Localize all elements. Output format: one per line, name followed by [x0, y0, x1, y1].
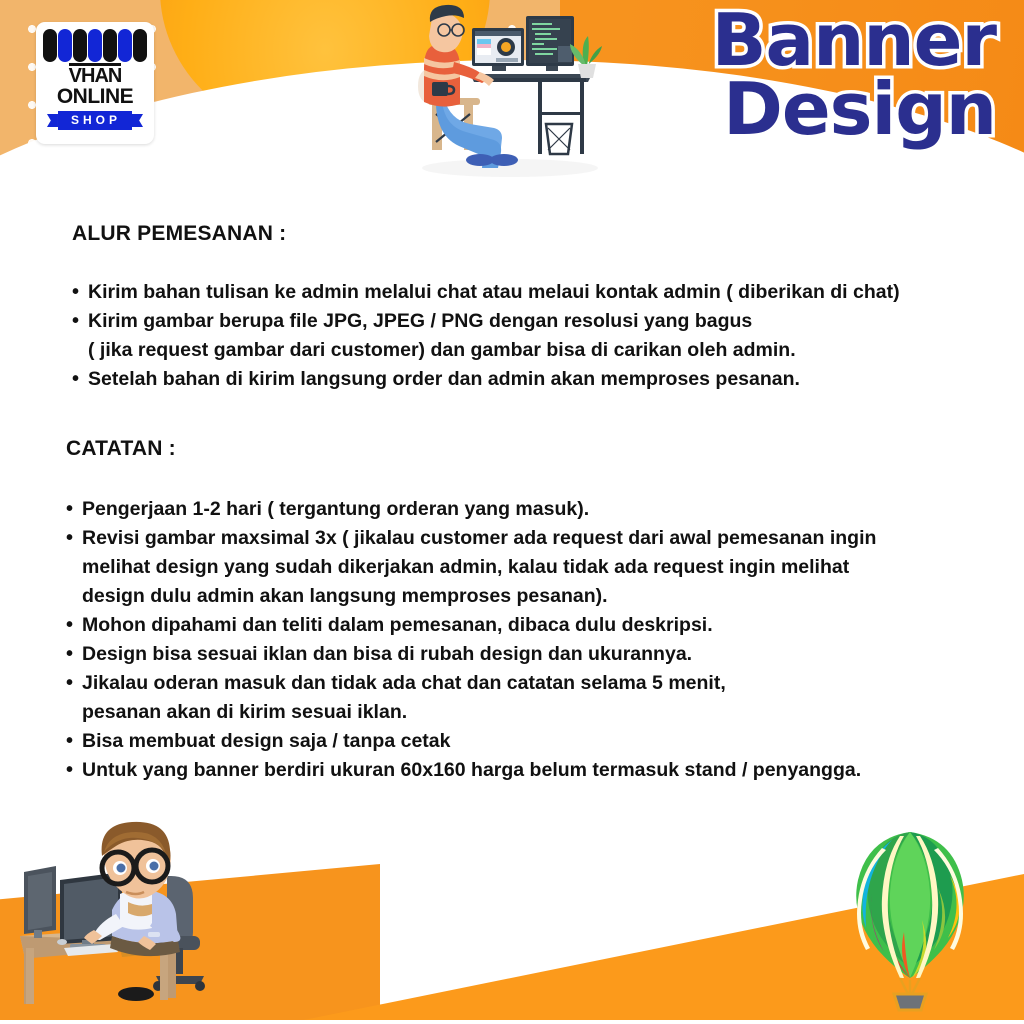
header-band: VHAN ONLINE SHOP: [0, 0, 1024, 210]
list-item-text: Kirim gambar berupa file JPG, JPEG / PNG…: [88, 307, 752, 336]
notes-item: •design dulu admin akan langsung mempros…: [66, 582, 876, 611]
notes-item: •melihat design yang sudah dikerjakan ad…: [66, 553, 876, 582]
list-item-text: Untuk yang banner berdiri ukuran 60x160 …: [82, 756, 861, 785]
list-item-text: Bisa membuat design saja / tanpa cetak: [82, 727, 450, 756]
logo-name-vhan: VHAN: [69, 63, 122, 86]
section-heading-order-flow: ALUR PEMESANAN :: [72, 222, 286, 246]
bullet-glyph: •: [66, 524, 82, 553]
list-item-text: melihat design yang sudah dikerjakan adm…: [82, 553, 849, 582]
logo-ribbon: SHOP: [57, 110, 133, 131]
logo-name-online: ONLINE: [57, 86, 133, 107]
list-item-text: design dulu admin akan langsung memprose…: [82, 582, 608, 611]
bullet-glyph: •: [66, 611, 82, 640]
list-item-text: ( jika request gambar dari customer) dan…: [88, 336, 796, 365]
bullet-glyph: •: [66, 495, 82, 524]
bullet-glyph: •: [72, 365, 88, 394]
footer-white-strip: [0, 1020, 1024, 1024]
list-item-text: Revisi gambar maxsimal 3x ( jikalau cust…: [82, 524, 876, 553]
order-flow-item: •Kirim gambar berupa file JPG, JPEG / PN…: [72, 307, 900, 336]
bullet-glyph: •: [66, 669, 82, 698]
poster-canvas: VHAN ONLINE SHOP: [0, 0, 1024, 1024]
order-flow-item: •Setelah bahan di kirim langsung order d…: [72, 365, 900, 394]
order-flow-item: •( jika request gambar dari customer) da…: [72, 336, 900, 365]
notes-item: •Pengerjaan 1-2 hari ( tergantung ordera…: [66, 495, 876, 524]
notes-item: •pesanan akan di kirim sesuai iklan.: [66, 698, 876, 727]
boy-at-computer-illustration: [8, 818, 300, 1018]
man-at-desk-illustration: [392, 2, 622, 182]
coreldraw-balloon-logo: [830, 814, 990, 1014]
logo-name-shop: SHOP: [57, 110, 133, 131]
bullet-glyph: •: [66, 756, 82, 785]
poster-title-line2: Design: [712, 75, 996, 144]
order-flow-list: •Kirim bahan tulisan ke admin melalui ch…: [72, 278, 900, 394]
poster-title-line1: Banner: [712, 6, 996, 75]
section-heading-notes: CATATAN :: [66, 437, 176, 461]
bullet-glyph: •: [66, 640, 82, 669]
bullet-glyph: •: [72, 307, 88, 336]
notes-item: •Revisi gambar maxsimal 3x ( jikalau cus…: [66, 524, 876, 553]
poster-title: Banner Design: [712, 6, 996, 144]
list-item-text: Mohon dipahami dan teliti dalam pemesana…: [82, 611, 713, 640]
notes-item: •Design bisa sesuai iklan dan bisa di ru…: [66, 640, 876, 669]
list-item-text: Jikalau oderan masuk dan tidak ada chat …: [82, 669, 726, 698]
list-item-text: pesanan akan di kirim sesuai iklan.: [82, 698, 407, 727]
bullet-glyph: •: [66, 727, 82, 756]
notes-item: •Jikalau oderan masuk dan tidak ada chat…: [66, 669, 876, 698]
list-item-text: Pengerjaan 1-2 hari ( tergantung orderan…: [82, 495, 589, 524]
storefront-awning-icon: [43, 29, 147, 62]
notes-item: •Mohon dipahami dan teliti dalam pemesan…: [66, 611, 876, 640]
list-item-text: Setelah bahan di kirim langsung order da…: [88, 365, 800, 394]
notes-list: •Pengerjaan 1-2 hari ( tergantung ordera…: [66, 495, 876, 785]
list-item-text: Kirim bahan tulisan ke admin melalui cha…: [88, 278, 900, 307]
brand-logo: VHAN ONLINE SHOP: [36, 22, 154, 144]
notes-item: •Untuk yang banner berdiri ukuran 60x160…: [66, 756, 876, 785]
list-item-text: Design bisa sesuai iklan dan bisa di rub…: [82, 640, 692, 669]
order-flow-item: •Kirim bahan tulisan ke admin melalui ch…: [72, 278, 900, 307]
footer-band: [0, 809, 1024, 1024]
bullet-glyph: •: [72, 278, 88, 307]
notes-item: •Bisa membuat design saja / tanpa cetak: [66, 727, 876, 756]
